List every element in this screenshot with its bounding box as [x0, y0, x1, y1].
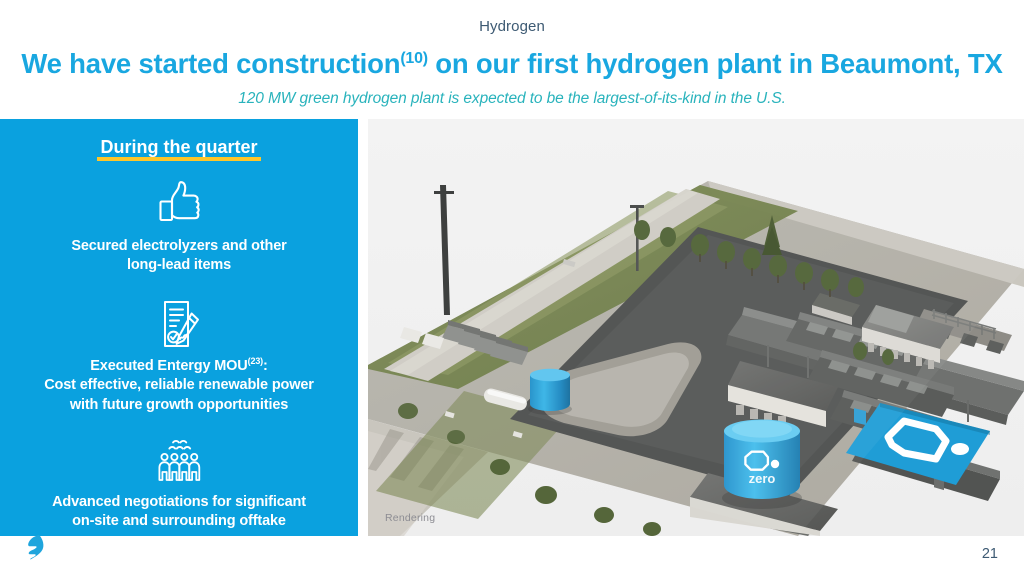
page-number: 21	[982, 546, 998, 562]
highlights-panel-heading-wrap: During the quarter	[0, 137, 358, 160]
list-item-footnote-ref: (23)	[248, 356, 263, 366]
list-item-line-1: Secured electrolyzers and other	[71, 238, 286, 254]
list-item-line-2: Cost effective, reliable renewable power	[44, 377, 314, 393]
list-item-text: Executed Entergy MOU(23): Cost effective…	[0, 357, 358, 414]
list-item-line-1: Advanced negotiations for significant	[52, 494, 306, 510]
list-item-line-2: long-lead items	[127, 257, 231, 273]
page-title-main: We have started construction	[21, 48, 400, 79]
list-item-text: Secured electrolyzers and other long-lea…	[0, 237, 358, 275]
highlights-panel-heading: During the quarter	[97, 137, 260, 160]
page-title-tail: on our first hydrogen plant in Beaumont,…	[428, 48, 1003, 79]
list-item-line-2: on-site and surrounding offtake	[72, 513, 286, 529]
fuelcell-wing-logo	[22, 534, 48, 560]
list-item: Secured electrolyzers and other long-lea…	[0, 179, 358, 275]
list-item-text: Advanced negotiations for significant on…	[0, 493, 358, 531]
slide: Hydrogen We have started construction(10…	[0, 0, 1024, 574]
list-item-line-3: with future growth opportunities	[70, 397, 288, 413]
highlights-list: Secured electrolyzers and other long-lea…	[0, 177, 358, 537]
thumbs-up-icon	[0, 179, 358, 229]
highlights-panel: During the quarter Secured electrolyzers…	[0, 119, 358, 536]
plant-rendering-image: zero	[368, 119, 1024, 536]
list-item: Advanced negotiations for significant on…	[0, 435, 358, 531]
list-item-line-1-main: Executed Entergy MOU	[90, 358, 247, 374]
list-item: Executed Entergy MOU(23): Cost effective…	[0, 299, 358, 414]
slide-eyebrow-label: Hydrogen	[0, 18, 1024, 35]
signed-document-icon	[0, 299, 358, 349]
list-item-line-1-tail: :	[263, 358, 268, 374]
page-subtitle: 120 MW green hydrogen plant is expected …	[0, 90, 1024, 108]
people-group-icon	[0, 435, 358, 485]
figure-caption: Rendering	[385, 512, 435, 524]
page-title-footnote-ref: (10)	[400, 50, 428, 67]
plant-rendering-figure: zero	[368, 119, 1024, 536]
page-title: We have started construction(10) on our …	[0, 48, 1024, 80]
